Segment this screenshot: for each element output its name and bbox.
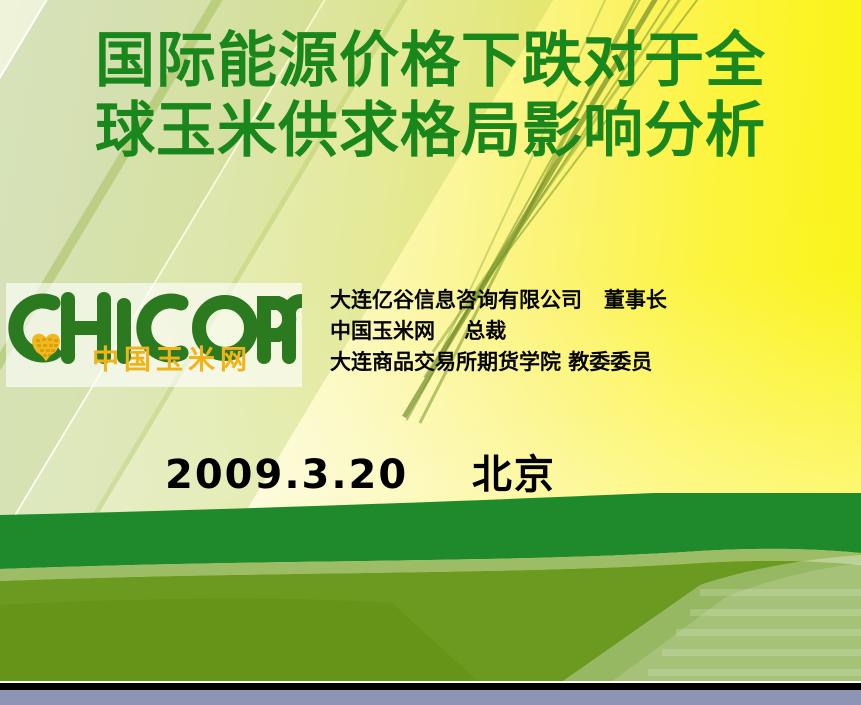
title-line-1: 国际能源价格下跌对于全 (0, 26, 861, 96)
slide-canvas[interactable]: 国际能源价格下跌对于全 球玉米供求格局影响分析 (0, 0, 861, 683)
date-venue-text: 2009.3.20 北京 (165, 450, 556, 500)
affiliation-line-3: 大连商品交易所期货学院 教委委员 (330, 347, 850, 378)
affiliation-block: 大连亿谷信息咨询有限公司 董事长 中国玉米网 总裁 大连商品交易所期货学院 教委… (330, 285, 850, 378)
page-title: 国际能源价格下跌对于全 球玉米供求格局影响分析 (0, 26, 861, 166)
svg-text:中国玉米网: 中国玉米网 (92, 345, 252, 376)
title-line-2: 球玉米供求格局影响分析 (0, 96, 861, 166)
chicorn-logo[interactable]: 中国玉米网 (6, 283, 302, 387)
application-status-bar[interactable] (0, 690, 861, 705)
window-bottom-border (0, 683, 861, 690)
presentation-window: 国际能源价格下跌对于全 球玉米供求格局影响分析 (0, 0, 861, 705)
affiliation-line-2: 中国玉米网 总裁 (330, 316, 850, 347)
affiliation-line-1: 大连亿谷信息咨询有限公司 董事长 (330, 285, 850, 316)
ground-landscape-decoration (0, 493, 861, 683)
